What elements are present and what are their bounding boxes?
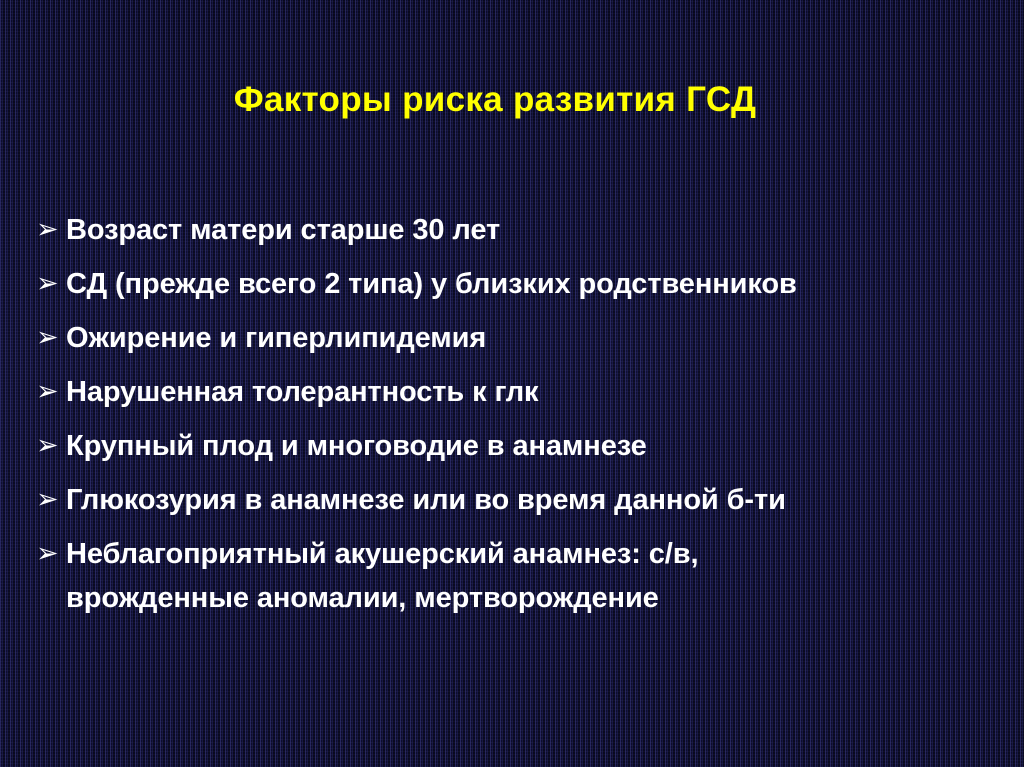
list-item: ➢ Возраст матери старше 30 лет (36, 208, 988, 252)
arrow-bullet-icon: ➢ (36, 316, 66, 360)
bullet-text: СД (прежде всего 2 типа) у близких родст… (66, 262, 988, 306)
arrow-bullet-icon: ➢ (36, 208, 66, 252)
list-item: ➢ СД (прежде всего 2 типа) у близких род… (36, 262, 988, 306)
bullet-line-continuation: врожденные аномалии, мертворождение (66, 576, 988, 620)
bullet-line-primary: Возраст матери старше 30 лет (66, 214, 500, 246)
arrow-bullet-icon: ➢ (36, 532, 66, 576)
arrow-bullet-icon: ➢ (36, 478, 66, 522)
arrow-bullet-icon: ➢ (36, 370, 66, 414)
slide-title: Факторы риска развития ГСД (0, 78, 990, 122)
arrow-bullet-icon: ➢ (36, 424, 66, 468)
bullet-list: ➢ Возраст матери старше 30 лет ➢ СД (пре… (36, 208, 988, 630)
list-item: ➢ Нарушенная толерантность к глк (36, 370, 988, 414)
arrow-bullet-icon: ➢ (36, 262, 66, 306)
list-item: ➢ Глюкозурия в анамнезе или во время дан… (36, 478, 988, 522)
bullet-text: Ожирение и гиперлипидемия (66, 316, 988, 360)
list-item: ➢ Крупный плод и многоводие в анамнезе (36, 424, 988, 468)
bullet-text: Возраст матери старше 30 лет (66, 208, 988, 252)
bullet-line-primary: СД (прежде всего 2 типа) у близких родст… (66, 268, 797, 300)
bullet-line-primary: Нарушенная толерантность к глк (66, 376, 538, 408)
bullet-text: Нарушенная толерантность к глк (66, 370, 988, 414)
list-item: ➢ Неблагоприятный акушерский анамнез: с/… (36, 532, 988, 620)
bullet-line-primary: Ожирение и гиперлипидемия (66, 322, 486, 354)
bullet-line-primary: Неблагоприятный акушерский анамнез: с/в, (66, 538, 698, 570)
bullet-line-primary: Крупный плод и многоводие в анамнезе (66, 430, 647, 462)
presentation-slide: Факторы риска развития ГСД ➢ Возраст мат… (0, 0, 1024, 767)
list-item: ➢ Ожирение и гиперлипидемия (36, 316, 988, 360)
bullet-text: Крупный плод и многоводие в анамнезе (66, 424, 988, 468)
bullet-text: Неблагоприятный акушерский анамнез: с/в,… (66, 532, 988, 620)
bullet-text: Глюкозурия в анамнезе или во время данно… (66, 478, 988, 522)
bullet-line-primary: Глюкозурия в анамнезе или во время данно… (66, 484, 786, 516)
